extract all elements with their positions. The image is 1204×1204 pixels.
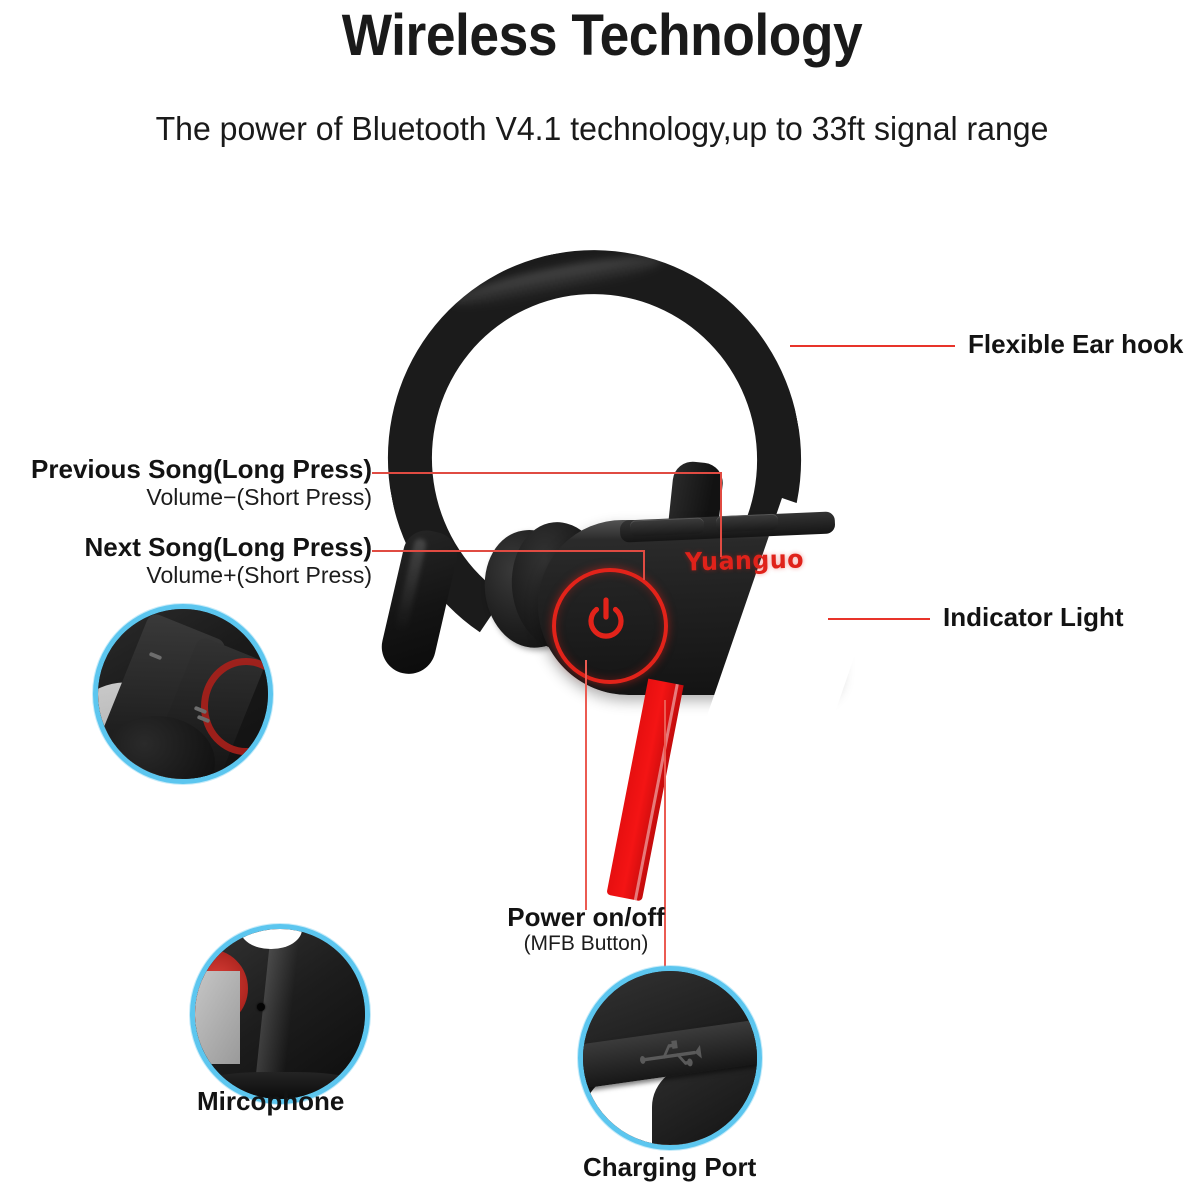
leader-previous-song-horizontal: [372, 472, 722, 474]
audio-cable: [606, 679, 683, 902]
callout-power-on-off: Power on/off (MFB Button): [400, 903, 772, 956]
callout-flexible-ear-hook: Flexible Ear hook: [968, 330, 1183, 359]
page-title: Wireless Technology: [48, 2, 1156, 69]
callout-previous-song-title: Previous Song(Long Press): [24, 455, 372, 484]
callout-next-song: Next Song(Long Press) Volume+(Short Pres…: [24, 533, 372, 589]
callout-previous-song: Previous Song(Long Press) Volume−(Short …: [24, 455, 372, 511]
leader-next-song-horizontal: [372, 550, 645, 552]
callout-indicator-light: Indicator Light: [943, 603, 1124, 632]
leader-flexible-ear-hook: [790, 345, 955, 347]
callout-next-song-subtitle: Volume+(Short Press): [24, 562, 372, 588]
product-illustration: Yuanguo: [330, 230, 930, 910]
next-song-button[interactable]: [630, 517, 705, 536]
callout-flexible-ear-hook-title: Flexible Ear hook: [968, 330, 1183, 359]
callout-power-on-off-title: Power on/off: [400, 903, 772, 932]
inset-microphone-caption: Mircophone: [197, 1086, 344, 1117]
callout-next-song-title: Next Song(Long Press): [24, 533, 372, 562]
leader-next-song-vertical: [643, 550, 645, 580]
leader-indicator-light: [828, 618, 930, 620]
callout-indicator-light-title: Indicator Light: [943, 603, 1124, 632]
callout-power-on-off-subtitle: (MFB Button): [400, 932, 772, 956]
microphone-pinhole: [257, 1003, 265, 1011]
inset-charging-port: [578, 966, 762, 1150]
brand-wordmark: Yuanguo: [685, 544, 805, 576]
infographic-canvas: Wireless Technology The power of Bluetoo…: [0, 0, 1204, 1204]
inset-charging-port-caption: Charging Port: [583, 1152, 756, 1183]
leader-power-on-off: [585, 660, 587, 910]
callout-previous-song-subtitle: Volume−(Short Press): [24, 484, 372, 510]
leader-previous-song-vertical: [720, 472, 722, 557]
inset-microphone: [190, 924, 370, 1104]
inset-volume-buttons: [93, 604, 273, 784]
power-icon: [582, 596, 630, 644]
previous-song-button[interactable]: [716, 514, 779, 533]
page-subtitle: The power of Bluetooth V4.1 technology,u…: [18, 110, 1186, 148]
